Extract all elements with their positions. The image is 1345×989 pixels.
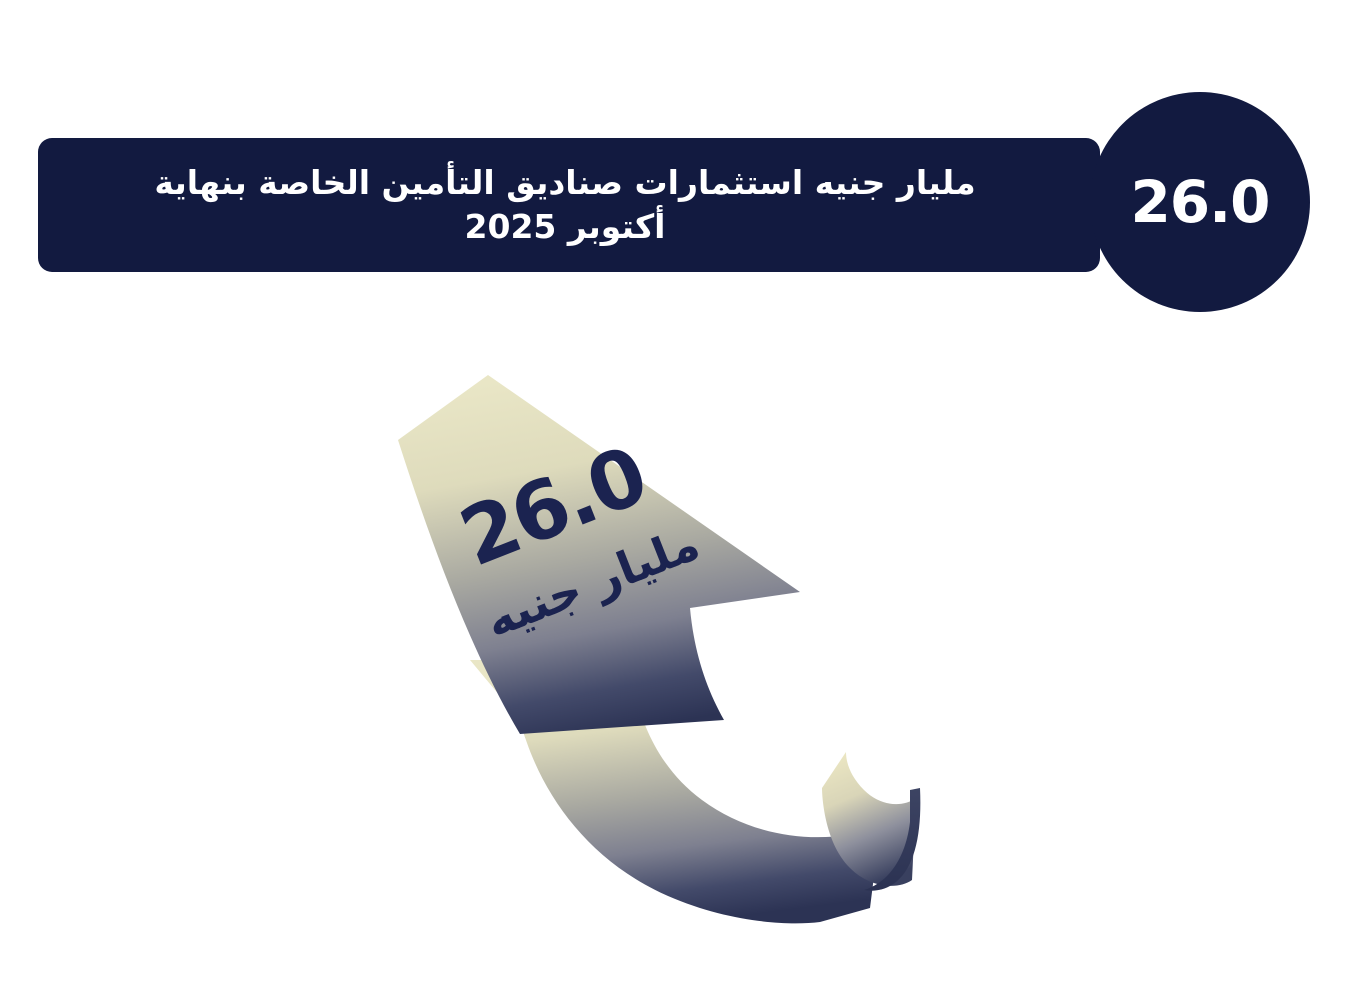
header-shapes [0, 0, 1345, 340]
badge-circle-shape [1090, 92, 1310, 312]
arrow-svg [350, 360, 970, 960]
infographic-canvas: مليار جنيه استثمارات صناديق التأمين الخا… [0, 0, 1345, 989]
arrow-graphic: 26.0 مليار جنيه [350, 360, 970, 960]
banner-shape [38, 138, 1100, 272]
header-group: مليار جنيه استثمارات صناديق التأمين الخا… [0, 0, 1345, 340]
